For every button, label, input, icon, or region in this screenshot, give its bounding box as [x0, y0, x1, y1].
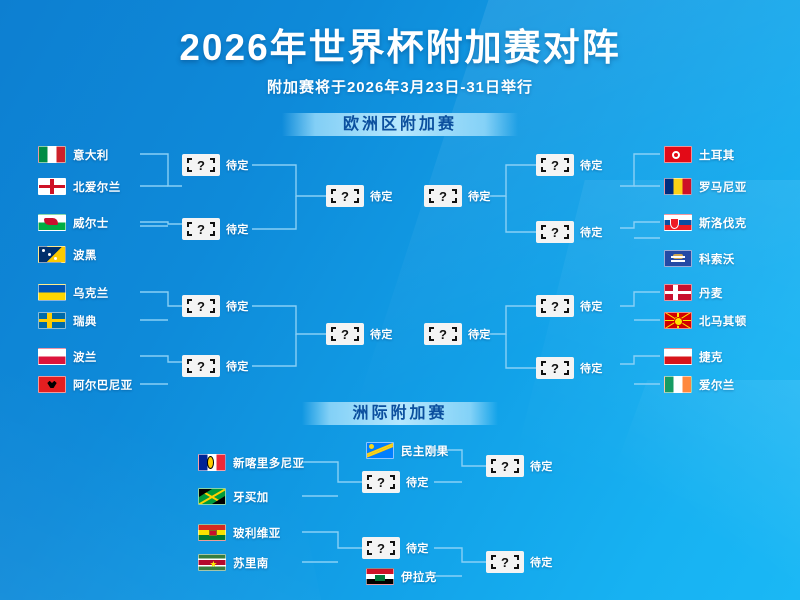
team-name: 阿尔巴尼亚: [73, 377, 133, 393]
question-mark-icon: ?: [424, 185, 462, 207]
tbd-slot[interactable]: ? 待定: [536, 154, 603, 176]
section-header-intercontinental: 洲际附加赛: [302, 402, 498, 425]
team-name: 伊拉克: [401, 569, 437, 585]
team-entry[interactable]: 伊拉克: [366, 568, 437, 585]
question-glyph: ?: [341, 328, 349, 341]
tbd-slot[interactable]: ? 待定: [326, 185, 393, 207]
team-name: 新喀里多尼亚: [233, 455, 304, 471]
flag-albania-icon: [38, 376, 66, 393]
question-glyph: ?: [377, 476, 385, 489]
question-mark-icon: ?: [536, 295, 574, 317]
team-entry[interactable]: 牙买加: [198, 488, 269, 505]
flag-jamaica-icon: [198, 488, 226, 505]
team-entry[interactable]: 北马其顿: [664, 312, 747, 329]
question-mark-icon: ?: [536, 357, 574, 379]
team-entry[interactable]: 爱尔兰: [664, 376, 735, 393]
question-mark-icon: ?: [182, 154, 220, 176]
team-name: 牙买加: [233, 489, 269, 505]
question-mark-icon: ?: [486, 455, 524, 477]
team-entry[interactable]: 瑞典: [38, 312, 97, 329]
question-mark-icon: ?: [536, 154, 574, 176]
tbd-label: 待定: [468, 326, 491, 342]
tbd-slot[interactable]: ? 待定: [182, 295, 249, 317]
tbd-slot[interactable]: ? 待定: [486, 455, 553, 477]
question-mark-icon: ?: [486, 551, 524, 573]
tbd-slot[interactable]: ? 待定: [486, 551, 553, 573]
question-mark-icon: ?: [182, 218, 220, 240]
team-name: 科索沃: [699, 251, 735, 267]
tbd-label: 待定: [580, 360, 603, 376]
team-entry[interactable]: 苏里南: [198, 554, 269, 571]
team-entry[interactable]: 波兰: [38, 348, 97, 365]
question-glyph: ?: [197, 300, 205, 313]
tbd-slot[interactable]: ? 待定: [362, 471, 429, 493]
team-name: 波兰: [73, 349, 97, 365]
team-entry[interactable]: 意大利: [38, 146, 109, 163]
team-entry[interactable]: 波黑: [38, 246, 97, 263]
question-mark-icon: ?: [362, 537, 400, 559]
flag-iraq-icon: [366, 568, 394, 585]
tbd-slot[interactable]: ? 待定: [182, 154, 249, 176]
team-entry[interactable]: 科索沃: [664, 230, 735, 267]
flag-czech-icon: [664, 348, 692, 365]
team-name: 瑞典: [73, 313, 97, 329]
team-name: 捷克: [699, 349, 723, 365]
flag-bolivia-icon: [198, 524, 226, 541]
flag-bosnia-icon: [38, 246, 66, 263]
tbd-label: 待定: [406, 540, 429, 556]
tbd-slot[interactable]: ? 待定: [182, 218, 249, 240]
flag-wales-icon: [38, 214, 66, 231]
question-glyph: ?: [439, 328, 447, 341]
tbd-label: 待定: [530, 554, 553, 570]
tbd-slot[interactable]: ? 待定: [536, 357, 603, 379]
question-glyph: ?: [501, 556, 509, 569]
tbd-label: 待定: [580, 157, 603, 173]
question-glyph: ?: [197, 159, 205, 172]
team-name: 苏里南: [233, 555, 269, 571]
team-entry[interactable]: 土耳其: [664, 146, 735, 163]
team-entry[interactable]: 斯洛伐克: [664, 214, 747, 231]
team-name: 罗马尼亚: [699, 179, 747, 195]
question-glyph: ?: [501, 460, 509, 473]
tbd-label: 待定: [580, 298, 603, 314]
background-shape-2: [455, 180, 800, 600]
tbd-slot[interactable]: ? 待定: [424, 323, 491, 345]
page-subtitle: 附加赛将于2026年3月23日-31日举行: [0, 76, 800, 97]
flag-ireland-icon: [664, 376, 692, 393]
flag-kosovo-icon: [664, 250, 692, 267]
team-name: 北马其顿: [699, 313, 747, 329]
flag-dr-congo-icon: [366, 442, 394, 459]
flag-sweden-icon: [38, 312, 66, 329]
flag-turkey-icon: [664, 146, 692, 163]
tbd-slot[interactable]: ? 待定: [326, 323, 393, 345]
tbd-slot[interactable]: ? 待定: [362, 537, 429, 559]
question-glyph: ?: [551, 362, 559, 375]
poster-header: 2026年世界杯附加赛对阵 附加赛将于2026年3月23日-31日举行: [0, 26, 800, 97]
bracket-poster: 2026年世界杯附加赛对阵 附加赛将于2026年3月23日-31日举行 欧洲区附…: [0, 0, 800, 600]
team-name: 土耳其: [699, 147, 735, 163]
tbd-slot[interactable]: ? 待定: [424, 185, 491, 207]
section-header-europe: 欧洲区附加赛: [282, 113, 518, 136]
tbd-label: 待定: [468, 188, 491, 204]
flag-new-caledonia-icon: [198, 454, 226, 471]
team-entry[interactable]: 北爱尔兰: [38, 178, 121, 195]
question-glyph: ?: [377, 542, 385, 555]
flag-slovakia-icon: [664, 214, 692, 231]
team-name: 乌克兰: [73, 285, 109, 301]
question-mark-icon: ?: [362, 471, 400, 493]
question-mark-icon: ?: [326, 323, 364, 345]
team-name: 威尔士: [73, 215, 109, 231]
team-name: 意大利: [73, 147, 109, 163]
team-entry[interactable]: 民主刚果: [366, 442, 449, 459]
question-glyph: ?: [439, 190, 447, 203]
team-name: 丹麦: [699, 285, 723, 301]
tbd-label: 待定: [406, 474, 429, 490]
question-mark-icon: ?: [536, 221, 574, 243]
flag-denmark-icon: [664, 284, 692, 301]
team-name: 斯洛伐克: [699, 215, 747, 231]
page-title: 2026年世界杯附加赛对阵: [0, 26, 800, 70]
team-entry[interactable]: 丹麦: [664, 284, 723, 301]
question-mark-icon: ?: [182, 295, 220, 317]
team-name: 玻利维亚: [233, 525, 281, 541]
tbd-slot[interactable]: ? 待定: [536, 221, 603, 243]
tbd-slot[interactable]: ? 待定: [536, 295, 603, 317]
team-entry[interactable]: 乌克兰: [38, 284, 109, 301]
team-name: 波黑: [73, 247, 97, 263]
tbd-label: 待定: [370, 326, 393, 342]
question-glyph: ?: [341, 190, 349, 203]
team-name: 民主刚果: [401, 443, 449, 459]
tbd-label: 待定: [226, 157, 249, 173]
question-glyph: ?: [197, 223, 205, 236]
team-name: 爱尔兰: [699, 377, 735, 393]
question-glyph: ?: [197, 360, 205, 373]
tbd-label: 待定: [370, 188, 393, 204]
question-glyph: ?: [551, 226, 559, 239]
tbd-label: 待定: [226, 221, 249, 237]
question-mark-icon: ?: [424, 323, 462, 345]
flag-poland-icon: [38, 348, 66, 365]
question-mark-icon: ?: [182, 355, 220, 377]
background-shape-4: [553, 380, 800, 600]
team-entry[interactable]: 威尔士: [38, 214, 109, 231]
team-entry[interactable]: 玻利维亚: [198, 524, 281, 541]
team-entry[interactable]: 新喀里多尼亚: [198, 454, 304, 471]
tbd-label: 待定: [226, 298, 249, 314]
flag-italy-icon: [38, 146, 66, 163]
tbd-label: 待定: [580, 224, 603, 240]
question-glyph: ?: [551, 159, 559, 172]
flag-northern-ireland-icon: [38, 178, 66, 195]
tbd-slot[interactable]: ? 待定: [182, 355, 249, 377]
question-mark-icon: ?: [326, 185, 364, 207]
flag-ukraine-icon: [38, 284, 66, 301]
team-entry[interactable]: 罗马尼亚: [664, 178, 747, 195]
flag-suriname-icon: [198, 554, 226, 571]
flag-north-macedonia-icon: [664, 312, 692, 329]
team-entry[interactable]: 捷克: [664, 348, 723, 365]
flag-romania-icon: [664, 178, 692, 195]
tbd-label: 待定: [530, 458, 553, 474]
question-glyph: ?: [551, 300, 559, 313]
tbd-label: 待定: [226, 358, 249, 374]
team-name: 北爱尔兰: [73, 179, 121, 195]
team-entry[interactable]: 阿尔巴尼亚: [38, 376, 133, 393]
